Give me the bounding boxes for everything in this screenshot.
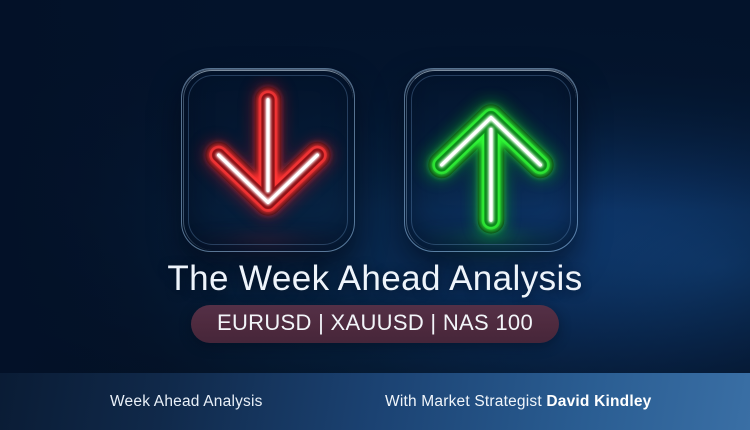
bullish-panel-inner: [411, 75, 571, 245]
footer-presenter-name: David Kindley: [546, 393, 651, 410]
bearish-panel-inner: [188, 75, 348, 245]
promo-banner: The Week Ahead Analysis EURUSD | XAUUSD …: [0, 0, 750, 430]
instruments-badge: EURUSD | XAUUSD | NAS 100: [191, 305, 559, 343]
bearish-panel[interactable]: [181, 68, 355, 252]
page-title: The Week Ahead Analysis: [0, 259, 750, 299]
arrow-up-icon: [412, 76, 570, 244]
bullish-panel[interactable]: [404, 68, 578, 252]
arrow-down-icon: [189, 76, 347, 244]
footer-show-name: Week Ahead Analysis: [110, 393, 263, 411]
footer-presenter-prefix: With Market Strategist: [385, 393, 542, 410]
footer-bar: Week Ahead Analysis With Market Strategi…: [0, 373, 750, 430]
footer-presenter: With Market Strategist David Kindley: [385, 393, 651, 411]
